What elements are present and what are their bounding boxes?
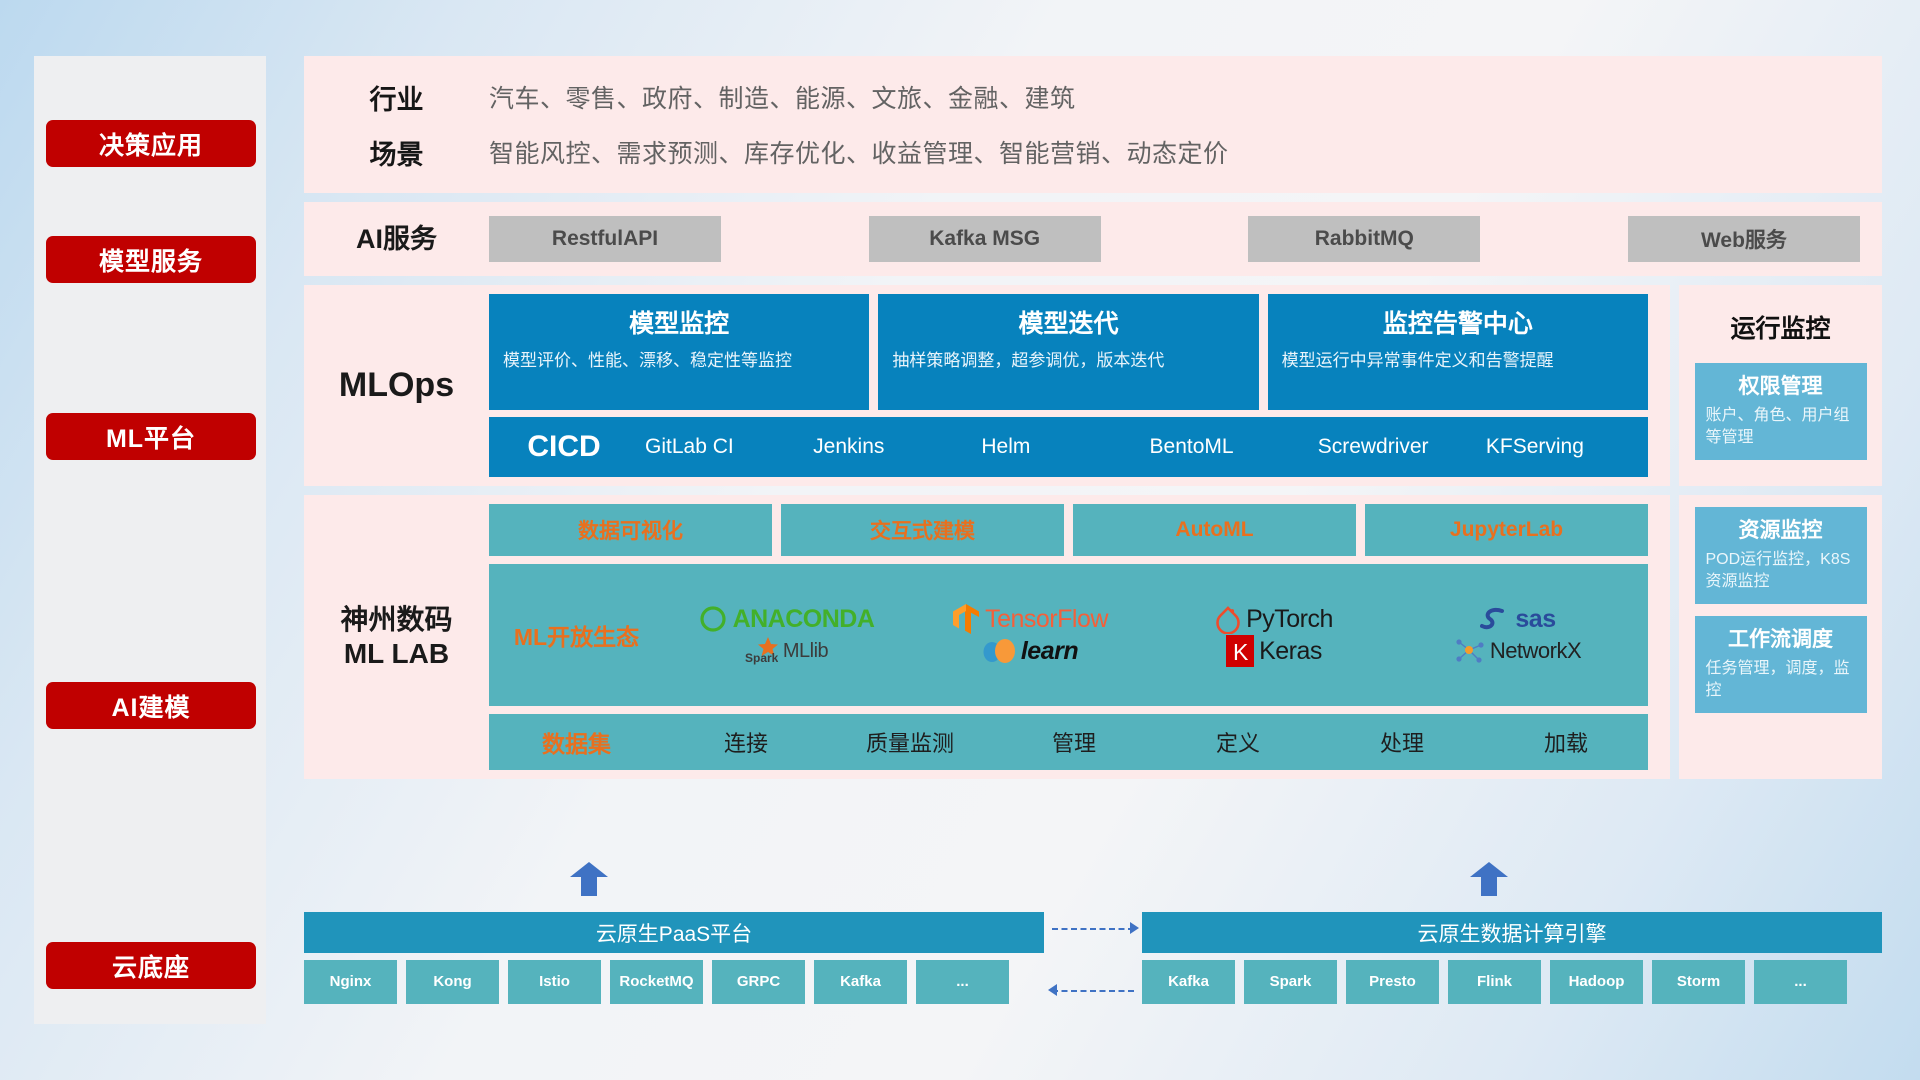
cicd-tool-kfserving[interactable]: KFServing <box>1480 435 1648 459</box>
sas-logo[interactable]: sas <box>1480 605 1555 634</box>
cicd-tool-jenkins[interactable]: Jenkins <box>807 435 975 459</box>
chip-label: Presto <box>1369 974 1416 991</box>
industry-row: 行业 汽车、零售、政府、制造、能源、文旅、金融、建筑 <box>304 78 1862 117</box>
service-chip-web-service[interactable]: Web服务 <box>1628 216 1860 262</box>
tab-automl[interactable]: AutoML <box>1073 504 1356 556</box>
spark-mllib-logo[interactable]: Spark MLlib <box>744 636 828 666</box>
keras-logo[interactable]: K Keras <box>1226 635 1322 667</box>
service-chip-label: RestfulAPI <box>552 227 658 251</box>
tab-label: AutoML <box>1175 518 1253 542</box>
tab-interactive-modeling[interactable]: 交互式建模 <box>781 504 1064 556</box>
dataset-item-connect[interactable]: 连接 <box>664 726 828 758</box>
cicd-row: CICD GitLab CI Jenkins Helm BentoML Scre… <box>489 417 1648 477</box>
link-arrow-right <box>1052 928 1134 930</box>
ml-lab-label-line2: ML LAB <box>344 638 449 669</box>
paas-chip-nginx[interactable]: Nginx <box>304 960 397 1004</box>
ai-modeling-band: 神州数码 ML LAB 数据可视化 交互式建模 AutoML JupyterLa… <box>304 495 1882 779</box>
engine-title: 云原生数据计算引擎 <box>1418 918 1607 948</box>
engine-chip-more[interactable]: ... <box>1754 960 1847 1004</box>
compute-engine-bar: 云原生数据计算引擎 <box>1142 912 1882 953</box>
ml-open-ecosystem: ML开放生态 ANACONDA TensorFlow <box>489 564 1648 706</box>
logo-label: NetworkX <box>1490 638 1581 664</box>
scenario-row: 场景 智能风控、需求预测、库存优化、收益管理、智能营销、动态定价 <box>304 133 1862 172</box>
paas-chip-kong[interactable]: Kong <box>406 960 499 1004</box>
cicd-tool-helm[interactable]: Helm <box>975 435 1143 459</box>
card-title: 监控告警中心 <box>1282 304 1634 340</box>
dataset-title: 数据集 <box>489 725 664 759</box>
ecosystem-label: ML开放生态 <box>489 618 664 652</box>
chip-label: ... <box>956 974 969 991</box>
logo-label: ANACONDA <box>733 605 875 634</box>
chip-label: Spark <box>1270 974 1312 991</box>
networkx-logo[interactable]: NetworkX <box>1455 637 1581 665</box>
card-title: 模型迭代 <box>892 304 1244 340</box>
logo-label: Keras <box>1259 637 1322 666</box>
tab-label: JupyterLab <box>1450 518 1563 542</box>
link-arrow-left <box>1052 990 1134 992</box>
service-chip-label: Web服务 <box>1701 224 1787 254</box>
rail-item-ml-platform[interactable]: ML平台 <box>46 413 256 460</box>
rail-item-label: 模型服务 <box>99 242 203 278</box>
card-title: 权限管理 <box>1706 370 1856 400</box>
logo-label: MLlib <box>783 640 828 663</box>
paas-chip-rocketmq[interactable]: RocketMQ <box>610 960 703 1004</box>
paas-chip-istio[interactable]: Istio <box>508 960 601 1004</box>
chip-label: Kafka <box>840 974 881 991</box>
dataset-item-management[interactable]: 管理 <box>992 726 1156 758</box>
service-chip-label: Kafka MSG <box>929 227 1040 251</box>
tab-jupyterlab[interactable]: JupyterLab <box>1365 504 1648 556</box>
arrow-up-icon-paas <box>570 862 608 896</box>
mlops-card-model-iteration[interactable]: 模型迭代 抽样策略调整，超参调优，版本迭代 <box>878 294 1258 410</box>
card-desc: 模型运行中异常事件定义和告警提醒 <box>1282 349 1634 373</box>
card-desc: 任务管理，调度，监控 <box>1706 658 1856 702</box>
card-title: 工作流调度 <box>1706 623 1856 653</box>
rail-item-decision-apps[interactable]: 决策应用 <box>46 120 256 167</box>
service-chip-kafka-msg[interactable]: Kafka MSG <box>869 216 1101 262</box>
scenario-values: 智能风控、需求预测、库存优化、收益管理、智能营销、动态定价 <box>489 134 1229 170</box>
runtime-monitor-title: 运行监控 <box>1730 309 1830 345</box>
paas-chip-grpc[interactable]: GRPC <box>712 960 805 1004</box>
ai-service-band: AI服务 RestfulAPI Kafka MSG RabbitMQ Web服务 <box>304 202 1882 276</box>
cloud-base-section: 云原生PaaS平台 云原生数据计算引擎 Nginx Kong Istio Roc… <box>304 890 1882 1030</box>
runtime-monitor-panel-bottom: 资源监控 POD运行监控，K8S资源监控 工作流调度 任务管理，调度，监控 <box>1679 495 1882 779</box>
scenario-label: 场景 <box>304 133 489 172</box>
dataset-item-loading[interactable]: 加载 <box>1484 726 1648 758</box>
dataset-row: 数据集 连接 质量监测 管理 定义 处理 加载 <box>489 714 1648 770</box>
service-chip-restfulapi[interactable]: RestfulAPI <box>489 216 721 262</box>
monitor-card-workflow[interactable]: 工作流调度 任务管理，调度，监控 <box>1695 616 1867 713</box>
card-desc: 模型评价、性能、漂移、稳定性等监控 <box>503 349 855 373</box>
cicd-title: CICD <box>489 430 639 464</box>
cicd-tool-screwdriver[interactable]: Screwdriver <box>1312 435 1480 459</box>
chip-label: Storm <box>1677 974 1720 991</box>
card-desc: POD运行监控，K8S资源监控 <box>1706 549 1856 593</box>
card-desc: 抽样策略调整，超参调优，版本迭代 <box>892 349 1244 373</box>
runtime-monitor-panel-top: 运行监控 权限管理 账户、角色、用户组等管理 <box>1679 285 1882 486</box>
monitor-card-resource[interactable]: 资源监控 POD运行监控，K8S资源监控 <box>1695 507 1867 604</box>
paas-chip-kafka[interactable]: Kafka <box>814 960 907 1004</box>
ai-service-label: AI服务 <box>304 223 489 256</box>
rail-item-label: 云底座 <box>112 948 190 984</box>
ml-platform-band: MLOps 模型监控 模型评价、性能、漂移、稳定性等监控 模型迭代 抽样策略调整… <box>304 285 1882 486</box>
scikit-learn-logo[interactable]: learn <box>982 635 1078 667</box>
chip-label: Hadoop <box>1569 974 1625 991</box>
link-arrow-right-head-icon <box>1130 922 1139 934</box>
mlops-card-alert-center[interactable]: 监控告警中心 模型运行中异常事件定义和告警提醒 <box>1268 294 1648 410</box>
engine-chip-kafka[interactable]: Kafka <box>1142 960 1235 1004</box>
stack-layer-rail: 决策应用 模型服务 ML平台 AI建模 云底座 <box>34 56 266 1024</box>
logo-label: TensorFlow <box>985 605 1108 634</box>
rail-item-model-service[interactable]: 模型服务 <box>46 236 256 283</box>
industry-label: 行业 <box>304 78 489 117</box>
svg-text:Spark: Spark <box>745 651 778 665</box>
architecture-main: 行业 汽车、零售、政府、制造、能源、文旅、金融、建筑 场景 智能风控、需求预测、… <box>304 56 1882 779</box>
chip-label: RocketMQ <box>619 974 693 991</box>
ml-lab-label: 神州数码 ML LAB <box>304 495 489 779</box>
engine-chip-storm[interactable]: Storm <box>1652 960 1745 1004</box>
mlops-card-model-monitoring[interactable]: 模型监控 模型评价、性能、漂移、稳定性等监控 <box>489 294 869 410</box>
card-desc: 账户、角色、用户组等管理 <box>1706 405 1856 449</box>
chip-label: Kafka <box>1168 974 1209 991</box>
engine-chip-flink[interactable]: Flink <box>1448 960 1541 1004</box>
ml-lab-label-line1: 神州数码 <box>340 604 452 635</box>
cicd-tool-bentoml[interactable]: BentoML <box>1144 435 1312 459</box>
tab-data-visualization[interactable]: 数据可视化 <box>489 504 772 556</box>
dataset-item-processing[interactable]: 处理 <box>1320 726 1484 758</box>
logo-label: learn <box>1021 637 1078 666</box>
rail-item-ai-modeling[interactable]: AI建模 <box>46 682 256 729</box>
logo-label: sas <box>1515 605 1555 634</box>
chip-label: Kong <box>433 974 471 991</box>
tab-label: 交互式建模 <box>870 515 975 545</box>
pytorch-logo[interactable]: PyTorch <box>1215 604 1333 634</box>
paas-platform-bar: 云原生PaaS平台 <box>304 912 1044 953</box>
arrow-up-icon-engine <box>1470 862 1508 896</box>
decision-apps-band: 行业 汽车、零售、政府、制造、能源、文旅、金融、建筑 场景 智能风控、需求预测、… <box>304 56 1882 193</box>
tab-label: 数据可视化 <box>578 515 683 545</box>
svg-text:K: K <box>1233 639 1249 665</box>
dataset-item-definition[interactable]: 定义 <box>1156 726 1320 758</box>
cicd-tool-gitlab-ci[interactable]: GitLab CI <box>639 435 807 459</box>
chip-label: Nginx <box>330 974 372 991</box>
service-chip-rabbitmq[interactable]: RabbitMQ <box>1248 216 1480 262</box>
rail-item-label: AI建模 <box>111 688 190 724</box>
chip-label: Istio <box>539 974 570 991</box>
paas-title: 云原生PaaS平台 <box>596 918 752 948</box>
service-chip-label: RabbitMQ <box>1315 227 1414 251</box>
card-title: 资源监控 <box>1706 514 1856 544</box>
logo-label: PyTorch <box>1246 605 1333 634</box>
chip-label: GRPC <box>737 974 780 991</box>
engine-chip-hadoop[interactable]: Hadoop <box>1550 960 1643 1004</box>
industry-values: 汽车、零售、政府、制造、能源、文旅、金融、建筑 <box>489 79 1076 115</box>
card-title: 模型监控 <box>503 304 855 340</box>
anaconda-logo[interactable]: ANACONDA <box>698 604 875 634</box>
paas-chip-more[interactable]: ... <box>916 960 1009 1004</box>
mlops-label: MLOps <box>304 285 489 486</box>
chip-label: ... <box>1794 974 1807 991</box>
tensorflow-logo[interactable]: TensorFlow <box>952 603 1108 635</box>
engine-chip-presto[interactable]: Presto <box>1346 960 1439 1004</box>
engine-chip-spark[interactable]: Spark <box>1244 960 1337 1004</box>
chip-label: Flink <box>1477 974 1512 991</box>
rail-item-cloud-base[interactable]: 云底座 <box>46 942 256 989</box>
monitor-card-permission[interactable]: 权限管理 账户、角色、用户组等管理 <box>1695 363 1867 460</box>
rail-item-label: 决策应用 <box>99 126 203 162</box>
dataset-item-quality-monitoring[interactable]: 质量监测 <box>828 726 992 758</box>
rail-item-label: ML平台 <box>106 419 196 455</box>
link-arrow-left-head-icon <box>1048 984 1057 996</box>
